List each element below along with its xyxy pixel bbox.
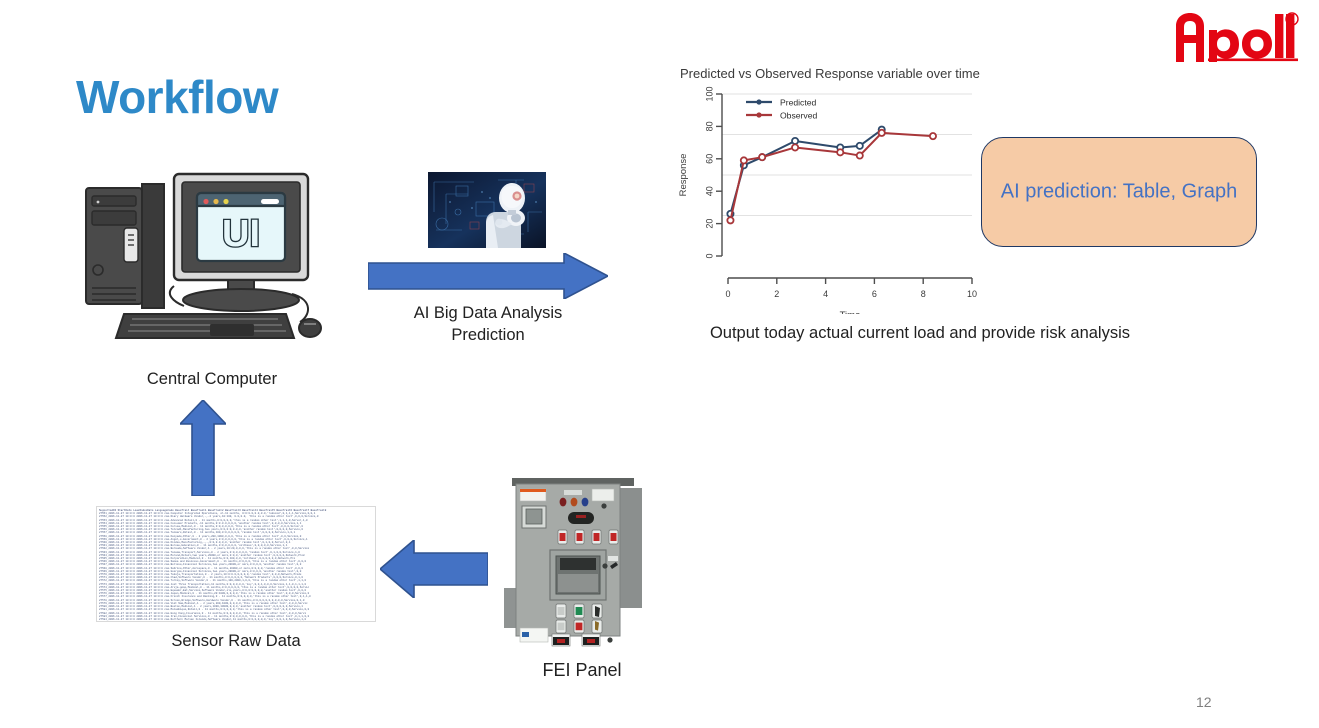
- slide-canvas: R Workflow: [0, 0, 1319, 728]
- y-axis-tick: 0: [704, 253, 714, 258]
- prediction-chart: Predicted vs Observed Response variable …: [672, 66, 988, 314]
- page-number: 12: [1196, 694, 1212, 710]
- series-point: [837, 149, 843, 155]
- chart-plot-area: 0204060801000246810TimeResponsePredicted…: [672, 80, 988, 314]
- series-point: [857, 143, 863, 149]
- sensor-raw-data-label: Sensor Raw Data: [96, 630, 376, 652]
- x-axis-tick: 10: [967, 289, 977, 299]
- chart-title: Predicted vs Observed Response variable …: [680, 66, 980, 81]
- series-point: [759, 154, 765, 160]
- legend-label: Observed: [780, 110, 817, 120]
- chart-caption: Output today actual current load and pro…: [640, 322, 1200, 344]
- fei-panel-label: FEI Panel: [472, 658, 692, 682]
- legend-label: Predicted: [780, 97, 817, 107]
- central-computer-illustration: UI: [78, 166, 346, 356]
- y-axis-tick: 60: [704, 154, 714, 164]
- arrow-right-ai-analysis: [368, 253, 608, 299]
- apollo-logo: R: [1172, 12, 1302, 64]
- x-axis-tick: 4: [823, 289, 828, 299]
- series-point: [792, 138, 798, 144]
- svg-text:R: R: [1289, 15, 1295, 24]
- svg-text:UI: UI: [222, 213, 260, 255]
- ai-analysis-label: AI Big Data Analysis Prediction: [368, 302, 608, 347]
- x-axis-tick: 0: [725, 289, 730, 299]
- x-axis-tick: 8: [921, 289, 926, 299]
- series-point: [741, 157, 747, 163]
- raw-data-line: 27584_2006-11-27 10:0:0 2006-11-27 10:0:…: [99, 618, 373, 621]
- series-point: [792, 144, 798, 150]
- y-axis-label: Response: [678, 154, 689, 197]
- y-axis-tick: 100: [704, 86, 714, 101]
- central-computer-label: Central Computer: [98, 368, 326, 390]
- x-axis-tick: 6: [872, 289, 877, 299]
- arrow-left-to-raw-data: [380, 540, 488, 598]
- fei-panel-image: [500, 470, 664, 648]
- series-point: [879, 130, 885, 136]
- ai-prediction-callout-text: AI prediction: Table, Graph: [982, 181, 1256, 204]
- y-axis-tick: 80: [704, 121, 714, 131]
- series-point: [857, 152, 863, 158]
- sensor-raw-data-image: SupportedID StartDate LoadIndexDate Lang…: [96, 506, 376, 622]
- ai-robot-image: [428, 172, 546, 248]
- y-axis-tick: 20: [704, 219, 714, 229]
- y-axis-tick: 40: [704, 186, 714, 196]
- arrow-up-to-computer: [180, 400, 226, 496]
- ai-prediction-callout: AI prediction: Table, Graph: [981, 137, 1257, 247]
- x-axis-tick: 2: [774, 289, 779, 299]
- series-point: [727, 217, 733, 223]
- series-point: [930, 133, 936, 139]
- page-title: Workflow: [76, 74, 278, 120]
- x-axis-label: Time: [840, 310, 861, 314]
